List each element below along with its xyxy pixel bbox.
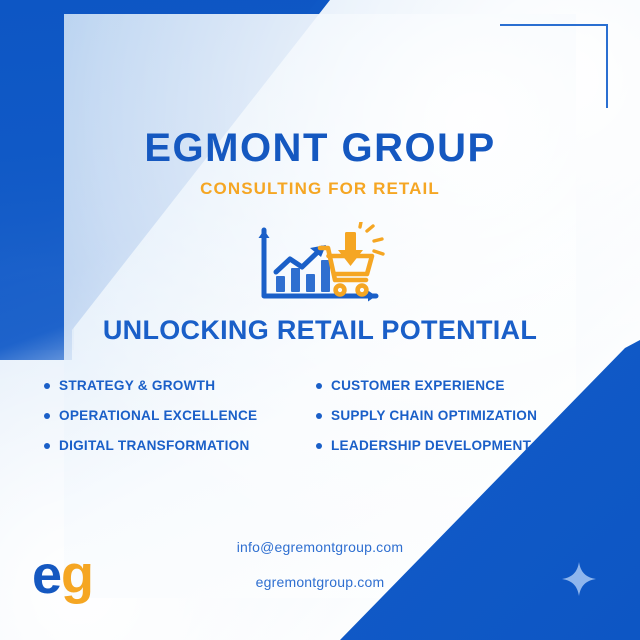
service-label: SUPPLY CHAIN OPTIMIZATION	[331, 408, 537, 423]
page-title: EGMONT GROUP	[0, 128, 640, 168]
page-subtitle: CONSULTING FOR RETAIL	[0, 180, 640, 197]
services-list: STRATEGY & GROWTH CUSTOMER EXPERIENCE OP…	[44, 378, 600, 453]
service-label: STRATEGY & GROWTH	[59, 378, 215, 393]
service-label: LEADERSHIP DEVELOPMENT	[331, 438, 531, 453]
bullet-dot-icon	[44, 383, 50, 389]
logo-letter-e: e	[32, 545, 61, 605]
service-item: OPERATIONAL EXCELLENCE	[44, 408, 316, 423]
poster-canvas: EGMONT GROUP CONSULTING FOR RETAIL	[0, 0, 640, 640]
bullet-dot-icon	[316, 383, 322, 389]
contact-website[interactable]: egremontgroup.com	[0, 575, 640, 589]
bullet-dot-icon	[316, 413, 322, 419]
hero-icon-wrapper	[0, 222, 640, 306]
service-label: CUSTOMER EXPERIENCE	[331, 378, 505, 393]
service-label: OPERATIONAL EXCELLENCE	[59, 408, 257, 423]
bullet-dot-icon	[44, 443, 50, 449]
service-item: CUSTOMER EXPERIENCE	[316, 378, 600, 393]
bullet-dot-icon	[44, 413, 50, 419]
service-item: STRATEGY & GROWTH	[44, 378, 316, 393]
contact-block: info@egremontgroup.com egremontgroup.com	[0, 540, 640, 589]
logo: eg	[32, 548, 93, 602]
retail-growth-chart-cart-icon	[250, 222, 390, 306]
contact-email[interactable]: info@egremontgroup.com	[0, 540, 640, 554]
service-label: DIGITAL TRANSFORMATION	[59, 438, 250, 453]
service-item: SUPPLY CHAIN OPTIMIZATION	[316, 408, 600, 423]
bullet-dot-icon	[316, 443, 322, 449]
service-item: DIGITAL TRANSFORMATION	[44, 438, 316, 453]
tagline: UNLOCKING RETAIL POTENTIAL	[0, 316, 640, 346]
logo-letter-g: g	[61, 545, 93, 605]
service-item: LEADERSHIP DEVELOPMENT	[316, 438, 600, 453]
